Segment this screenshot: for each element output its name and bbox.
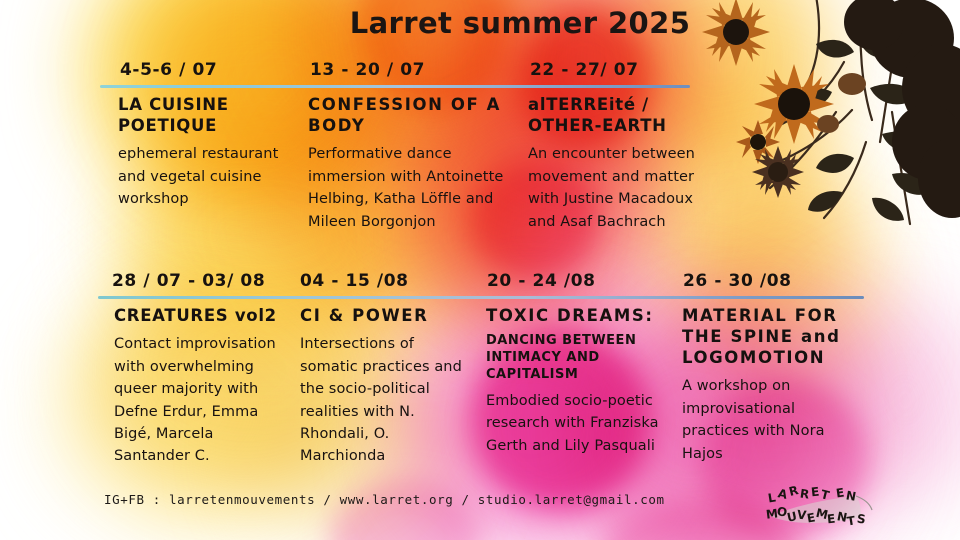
event-card[interactable]: alTERREité / OTHER-EARTH An encounter be… [528, 94, 708, 233]
event-dates: 28 / 07 - 03/ 08 [112, 271, 265, 291]
event-description: Contact improvisation with overwhelming … [114, 333, 292, 468]
event-description: Intersections of somatic practices and t… [300, 333, 472, 468]
poster-content: Larret summer 2025 4-5-6 / 07 13 - 20 / … [0, 0, 960, 540]
row-divider [100, 85, 690, 88]
larret-en-mouvements-logo[interactable]: L A R R E T E N M O U V E M E N T S [764, 482, 874, 534]
footer-contact[interactable]: IG+FB : larretenmouvements / www.larret.… [104, 492, 665, 507]
event-description: ephemeral restaurant and vegetal cuisine… [118, 143, 293, 210]
event-title: CONFESSION OF A BODY [308, 94, 513, 136]
event-description: Performative dance immersion with Antoin… [308, 143, 513, 233]
logo-letter: E [835, 486, 845, 499]
logo-letter: L [767, 491, 776, 504]
event-title: CI & POWER [300, 305, 472, 326]
page-title: Larret summer 2025 [310, 6, 730, 40]
event-card[interactable]: TOXIC DREAMS: DANCING BETWEEN INTIMACY A… [486, 305, 671, 457]
event-dates: 26 - 30 /08 [683, 271, 792, 291]
event-title: CREATURES vol2 [114, 305, 292, 326]
event-subtitle: DANCING BETWEEN INTIMACY AND CAPITALISM [486, 333, 671, 384]
event-card[interactable]: MATERIAL FOR THE SPINE and LOGOMOTION A … [682, 305, 862, 465]
logo-letter: S [856, 513, 866, 526]
logo-letter: E [810, 486, 819, 499]
event-dates: 13 - 20 / 07 [310, 60, 425, 80]
event-card[interactable]: LA CUISINE POETIQUE ephemeral restaurant… [118, 94, 293, 211]
event-title: LA CUISINE POETIQUE [118, 94, 293, 136]
row-divider [98, 296, 864, 299]
event-description: A workshop on improvisational practices … [682, 375, 862, 465]
logo-letter: N [845, 489, 857, 503]
event-title: TOXIC DREAMS: [486, 305, 671, 326]
event-dates: 4-5-6 / 07 [120, 60, 217, 80]
event-card[interactable]: CI & POWER Intersections of somatic prac… [300, 305, 472, 468]
event-card[interactable]: CONFESSION OF A BODY Performative dance … [308, 94, 513, 233]
event-title: MATERIAL FOR THE SPINE and LOGOMOTION [682, 305, 862, 368]
event-description: Embodied socio-poetic research with Fran… [486, 390, 671, 457]
event-card[interactable]: CREATURES vol2 Contact improvisation wit… [114, 305, 292, 468]
event-title: alTERREité / OTHER-EARTH [528, 94, 708, 136]
logo-letter: R [799, 487, 810, 500]
poster: Larret summer 2025 4-5-6 / 07 13 - 20 / … [0, 0, 960, 540]
event-description: An encounter between movement and matter… [528, 143, 708, 233]
event-dates: 20 - 24 /08 [487, 271, 596, 291]
logo-letter: T [846, 514, 856, 527]
event-dates: 22 - 27/ 07 [530, 60, 639, 80]
logo-letter: V [796, 509, 807, 522]
logo-letter: E [826, 513, 835, 526]
event-dates: 04 - 15 /08 [300, 271, 409, 291]
